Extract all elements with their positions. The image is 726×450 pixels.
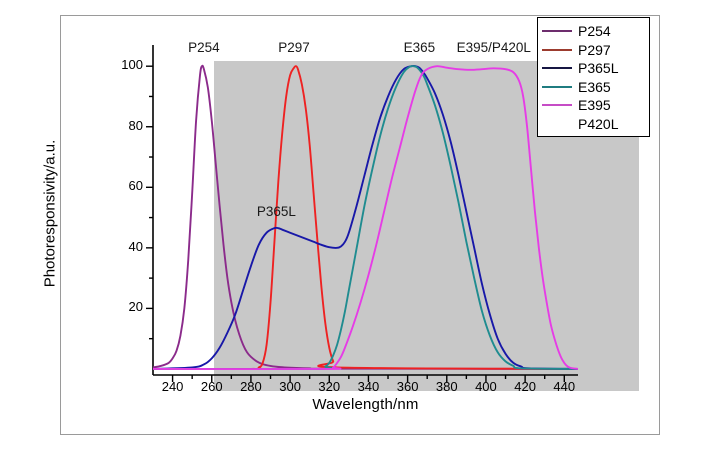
legend-entry-p365l[interactable]: P365L xyxy=(542,59,646,78)
x-tick-label: 300 xyxy=(270,379,310,394)
legend-label: P365L xyxy=(578,61,618,75)
x-tick-label: 240 xyxy=(153,379,193,394)
legend-label: P297 xyxy=(578,43,611,57)
x-tick-label: 420 xyxy=(505,379,545,394)
x-tick-label: 280 xyxy=(231,379,271,394)
legend-line-swatch xyxy=(542,123,572,125)
y-tick-label: 40 xyxy=(103,239,143,254)
x-tick-label: 260 xyxy=(192,379,232,394)
y-tick-label: 20 xyxy=(103,299,143,314)
legend-entry-e395[interactable]: E395 xyxy=(542,96,646,115)
y-tick-label: 80 xyxy=(103,118,143,133)
legend-line-swatch xyxy=(542,86,572,88)
legend-line-swatch xyxy=(542,104,572,106)
x-tick-label: 440 xyxy=(544,379,584,394)
legend-line-swatch xyxy=(542,30,572,32)
x-axis-title: Wavelength/nm xyxy=(153,396,578,413)
curve-annotation-p365l: P365L xyxy=(257,204,296,219)
y-axis-title: Photoresponsivity/a.u. xyxy=(42,104,59,324)
legend-entry-p420l[interactable]: P420L xyxy=(542,115,646,134)
figure-root: Wavelength/nm Photoresponsivity/a.u. 240… xyxy=(0,0,726,450)
x-tick-label: 360 xyxy=(388,379,428,394)
x-tick-label: 320 xyxy=(309,379,349,394)
x-tick-label: 340 xyxy=(348,379,388,394)
legend-label: E395 xyxy=(578,98,611,112)
x-tick-label: 400 xyxy=(466,379,506,394)
y-tick-label: 60 xyxy=(103,178,143,193)
curve-annotation-p297: P297 xyxy=(278,40,310,55)
y-tick-label: 100 xyxy=(103,57,143,72)
legend-entry-p297[interactable]: P297 xyxy=(542,41,646,60)
legend-line-swatch xyxy=(542,49,572,51)
legend[interactable]: P254P297P365LE365E395P420L xyxy=(537,17,650,137)
curve-annotation-p254: P254 xyxy=(188,40,220,55)
x-tick-label: 380 xyxy=(427,379,467,394)
legend-line-swatch xyxy=(542,67,572,69)
legend-label: E365 xyxy=(578,80,611,94)
legend-label: P254 xyxy=(578,24,611,38)
legend-entry-e365[interactable]: E365 xyxy=(542,78,646,97)
legend-label: P420L xyxy=(578,117,618,131)
curve-annotation-e395-p420l: E395/P420L xyxy=(457,40,531,55)
legend-entry-p254[interactable]: P254 xyxy=(542,22,646,41)
curve-annotation-e365: E365 xyxy=(404,40,436,55)
